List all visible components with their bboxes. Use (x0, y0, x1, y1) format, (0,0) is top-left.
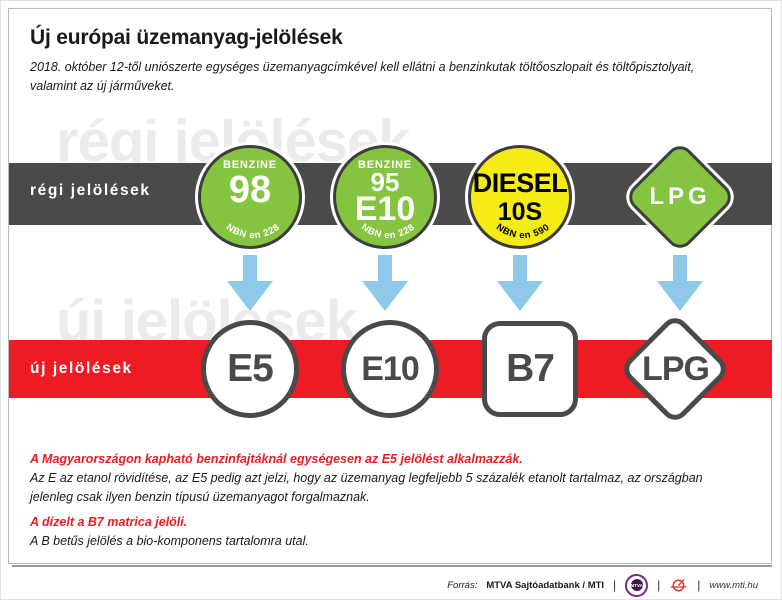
page-title: Új európai üzemanyag-jelölések (30, 26, 343, 50)
arrow-down-icon (358, 255, 412, 313)
new-band-label: új jelölések (30, 360, 133, 378)
svg-text:NBN en 590: NBN en 590 (494, 222, 552, 241)
old-symbol-circle: BENZINE 98 NBN en 228 (198, 145, 302, 249)
note-body: Az E az etanol rövidítése, az E5 pedig a… (30, 469, 720, 508)
old-symbol-standard-arc: NBN en 590 (471, 148, 575, 252)
old-symbol-main-text: LPG (625, 142, 735, 252)
old-symbol-lpg[interactable]: LPG (625, 142, 735, 252)
arrow-down-icon (223, 255, 277, 313)
old-symbol-standard-arc: NBN en 228 (336, 148, 440, 252)
new-symbol-label: E10 (361, 350, 419, 389)
mtva-logo-text: MTVA (631, 579, 643, 591)
new-symbol-circle: E10 (341, 320, 439, 418)
old-symbol-standard-text: NBN en 228 (359, 222, 417, 241)
page-subtitle: 2018. október 12-től uniószerte egységes… (30, 58, 730, 97)
new-symbol-label: B7 (506, 347, 554, 391)
old-symbol-circle: BENZINE 95 E10 NBN en 228 (333, 145, 437, 249)
infographic-page: Új európai üzemanyag-jelölések 2018. okt… (0, 0, 782, 600)
mtva-logo-icon: MTVA (625, 574, 648, 597)
page-frame-shadow (12, 565, 772, 567)
new-symbol-e5[interactable]: E5 (201, 320, 299, 418)
new-symbol-label: LPG (619, 313, 732, 426)
note-block-petrol: A Magyarországon kapható benzinfajtáknál… (30, 450, 720, 508)
footer-bar: Forrás: MTVA Sajtóadatbank / MTI | MTVA … (9, 572, 772, 598)
note-block-diesel: A dízelt a B7 matrica jelöli. A B betűs … (30, 513, 720, 551)
new-symbol-b7[interactable]: B7 (482, 321, 578, 417)
old-symbol-standard-text: NBN en 228 (224, 222, 282, 241)
note-body: A B betűs jelölés a bio-komponens tartal… (30, 532, 720, 551)
old-symbol-circle: DIESEL 10S NBN en 590 (468, 145, 572, 249)
footer-separator: | (697, 578, 700, 592)
footer-separator: | (657, 578, 660, 592)
footer-separator: | (613, 578, 616, 592)
footer-source-name: MTVA Sajtóadatbank / MTI (486, 580, 604, 591)
old-symbol-benzine-95-e10[interactable]: BENZINE 95 E10 NBN en 228 (333, 145, 437, 249)
new-symbol-label: E5 (227, 347, 273, 391)
arrow-down-icon (493, 255, 547, 313)
old-symbol-diesel-10s[interactable]: DIESEL 10S NBN en 590 (468, 145, 572, 249)
old-band-label: régi jelölések (30, 182, 151, 200)
new-symbol-e10[interactable]: E10 (341, 320, 439, 418)
note-heading: A dízelt a B7 matrica jelöli. (30, 513, 720, 532)
new-symbol-lpg[interactable]: LPG (619, 313, 732, 426)
arrow-down-icon (653, 255, 707, 313)
old-symbol-benzine-98[interactable]: BENZINE 98 NBN en 228 (198, 145, 302, 249)
footer-source-prefix: Forrás: (447, 580, 477, 591)
svg-text:NBN en 228: NBN en 228 (224, 222, 282, 241)
svg-text:NBN en 228: NBN en 228 (359, 222, 417, 241)
note-heading: A Magyarországon kapható benzinfajtáknál… (30, 450, 720, 469)
footer-url[interactable]: www.mti.hu (709, 580, 758, 591)
old-symbol-standard-text: NBN en 590 (494, 222, 552, 241)
mti-logo-icon (669, 576, 688, 595)
old-symbol-standard-arc: NBN en 228 (201, 148, 305, 252)
new-symbol-circle: E5 (201, 320, 299, 418)
new-symbol-square: B7 (482, 321, 578, 417)
